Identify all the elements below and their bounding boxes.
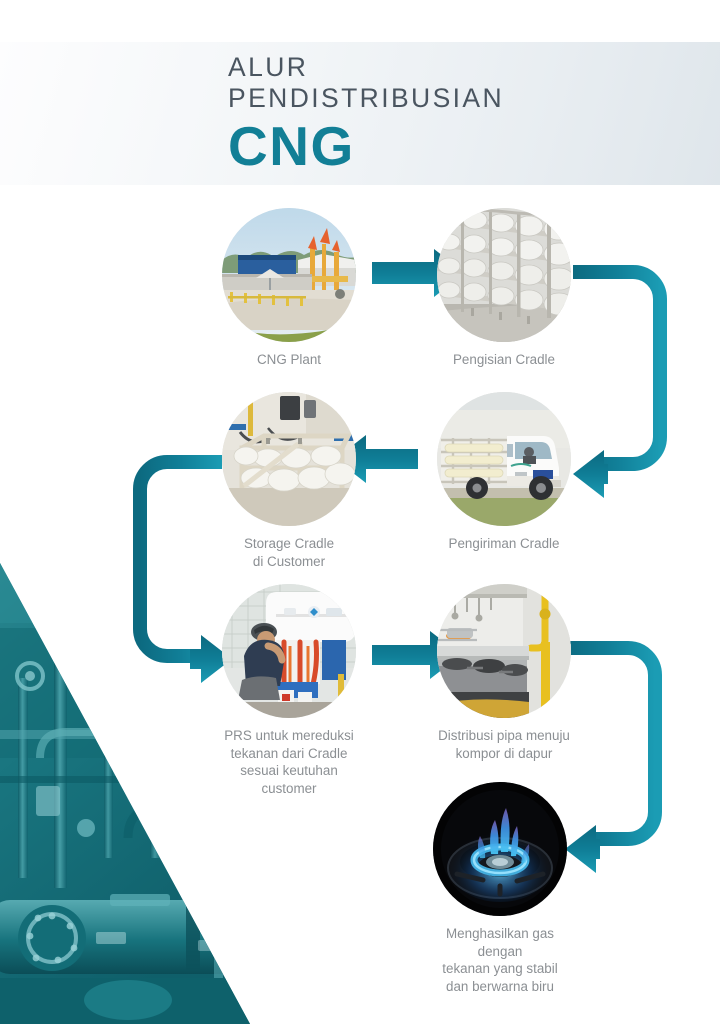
step-label: PRS untuk mereduksi tekanan dari Cradle … (222, 727, 356, 797)
cylinder-rack-photo (437, 208, 571, 342)
step-label: Distribusi pipa menuju kompor di dapur (437, 727, 571, 762)
decorative-machinery-wedge (0, 508, 250, 1024)
blue-flame-photo (433, 782, 567, 916)
storage-cradle-photo (222, 392, 356, 526)
step-label: Pengiriman Cradle (437, 535, 571, 553)
title-cng: CNG (228, 116, 504, 176)
step-label: CNG Plant (222, 351, 356, 369)
step-label: Menghasilkan gas dengan tekanan yang sta… (433, 925, 567, 995)
kitchen-pipe-photo (437, 584, 571, 718)
step-pengisian-cradle[interactable]: Pengisian Cradle (437, 208, 571, 369)
arrow-storage-to-prs (140, 462, 232, 683)
cng-plant-photo (222, 208, 356, 342)
infographic-page: ALUR PENDISTRIBUSIAN CNG (0, 0, 720, 1024)
page-title: ALUR PENDISTRIBUSIAN CNG (228, 52, 504, 176)
step-distribusi-pipa[interactable]: Distribusi pipa menuju kompor di dapur (437, 584, 571, 762)
step-pengiriman-cradle[interactable]: Pengiriman Cradle (437, 392, 571, 553)
prs-technician-photo (222, 584, 356, 718)
step-cng-plant[interactable]: CNG Plant (222, 208, 356, 369)
arrow-distribusi-to-flame (565, 648, 655, 873)
title-line-1: ALUR (228, 52, 504, 83)
step-label: Pengisian Cradle (437, 351, 571, 369)
delivery-truck-photo (437, 392, 571, 526)
top-white-strip (0, 0, 720, 42)
machinery-photo (0, 508, 250, 1024)
step-prs[interactable]: PRS untuk mereduksi tekanan dari Cradle … (222, 584, 356, 797)
step-storage-cradle[interactable]: Storage Cradle di Customer (222, 392, 356, 570)
title-line-2: PENDISTRIBUSIAN (228, 83, 504, 114)
step-gas-flame[interactable]: Menghasilkan gas dengan tekanan yang sta… (433, 782, 567, 995)
arrow-pengisian-to-pengiriman (573, 272, 660, 498)
step-label: Storage Cradle di Customer (222, 535, 356, 570)
